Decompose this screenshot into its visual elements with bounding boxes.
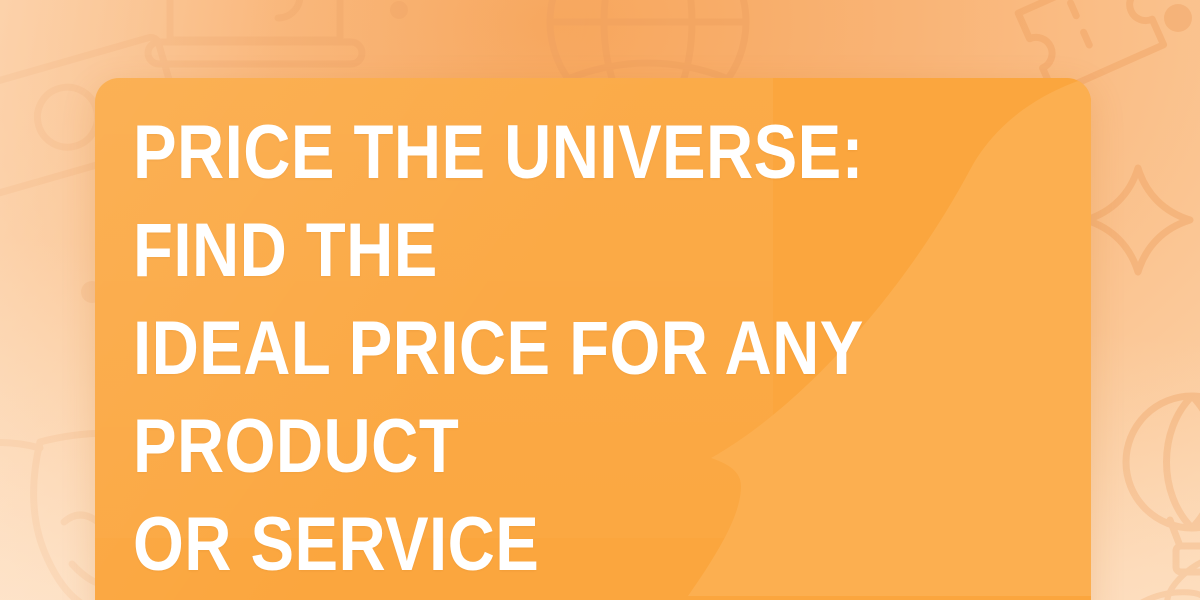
event-datetime: TUE, 24 FEB, 2026 AT 09:30 AM	[133, 594, 932, 600]
event-card-content: PRICE THE UNIVERSE: FIND THE IDEAL PRICE…	[133, 104, 1051, 600]
event-banner: PRICE THE UNIVERSE: FIND THE IDEAL PRICE…	[0, 0, 1200, 600]
event-card: PRICE THE UNIVERSE: FIND THE IDEAL PRICE…	[95, 78, 1091, 600]
page-title: PRICE THE UNIVERSE: FIND THE IDEAL PRICE…	[133, 104, 922, 594]
